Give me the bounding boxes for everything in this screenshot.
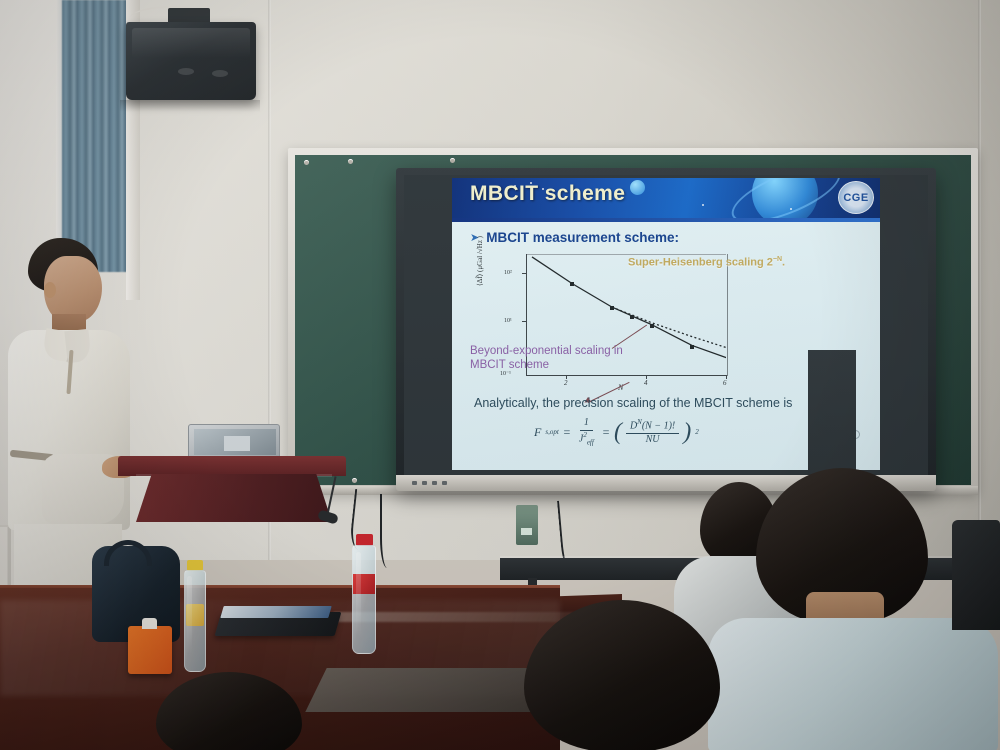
annotation-beyond-exponential: Beyond-exponential scaling in MBCIT sche… <box>470 344 623 373</box>
speaker-shadow <box>120 100 260 112</box>
formula-outer-exponent: 2 <box>695 428 699 436</box>
slide-bullet-text: MBCIT measurement scheme: <box>486 230 679 245</box>
slide-bullet-row: ➤ MBCIT measurement scheme: <box>470 230 679 245</box>
precision-scaling-formula: Fs,opt = 1 J2eff = ( DN(N − 1)! NU )2 <box>534 418 699 446</box>
wall-outlet-box <box>516 505 538 545</box>
cge-logo-text: CGE <box>843 192 868 204</box>
formula-open-paren: ( <box>614 422 622 442</box>
papers-on-table <box>220 606 331 618</box>
wall-seam-right <box>978 0 981 560</box>
podium-body <box>136 474 332 522</box>
formula-frac1-den-sub: eff <box>587 438 594 446</box>
cge-logo: CGE <box>838 181 874 214</box>
chart-xtick-mark-1 <box>646 375 647 379</box>
display-button-4[interactable] <box>442 481 447 485</box>
orange-container-cap <box>142 618 157 629</box>
chart-xtick-mark-0 <box>566 375 567 379</box>
annotation-beyond-line2: MBCIT scheme <box>470 358 623 372</box>
audience-body-right <box>708 618 998 750</box>
wall-outlet-led <box>521 528 532 535</box>
display-button-1[interactable] <box>412 481 417 485</box>
formula-frac2-numerator: DN(N − 1)! <box>626 419 679 434</box>
board-screw-t1 <box>348 159 353 164</box>
display-button-2[interactable] <box>422 481 427 485</box>
annotation-super-exponent: −N <box>773 256 782 263</box>
chart-ytick-0: 10² <box>504 270 512 276</box>
chart-xtick-0: 2 <box>564 379 568 387</box>
formula-eq1: = <box>563 425 571 440</box>
podium-top-surface <box>118 456 346 476</box>
chart-xtick-2: 6 <box>723 379 727 387</box>
slide-header-banner: MBCIT scheme CGE <box>452 178 880 218</box>
lecture-photo-scene: MBCIT scheme CGE ➤ MBCIT measurement sch… <box>0 0 1000 750</box>
orange-container <box>128 626 172 674</box>
slide-analytic-text: Analytically, the precision scaling of t… <box>474 396 792 410</box>
formula-fraction-2: DN(N − 1)! NU <box>626 419 679 445</box>
speaker-driver-left <box>178 68 194 75</box>
formula-frac2-num-rest: (N − 1)! <box>642 420 675 431</box>
chart-marker-5 <box>690 345 694 349</box>
formula-frac1-numerator: 1 <box>580 418 593 431</box>
chart-right-spine <box>727 254 728 376</box>
display-button-3[interactable] <box>432 481 437 485</box>
annotation-beyond-line1: Beyond-exponential scaling in <box>470 344 623 358</box>
chart-marker-2 <box>610 306 614 310</box>
formula-close-paren: ) <box>683 422 691 442</box>
window-curtain <box>62 0 130 272</box>
slide-banner-rule <box>452 218 880 222</box>
chart-marker-4 <box>650 324 654 328</box>
banner-planet-ring <box>725 178 848 218</box>
slide-title: MBCIT scheme <box>470 182 625 206</box>
water-bottle-right <box>350 534 378 654</box>
board-screw-tl <box>304 160 309 165</box>
speaker-driver-right <box>212 70 228 77</box>
board-screw-b1 <box>352 478 357 483</box>
chart-y-axis-label: ⟨Δf̃⟩ (μGal /√Hz ) <box>476 186 484 286</box>
interactive-display-screen[interactable]: MBCIT scheme CGE ➤ MBCIT measurement sch… <box>404 175 928 475</box>
chart-x-axis <box>526 375 728 376</box>
annotation-super-text: Super-Heisenberg scaling 2 <box>628 257 773 269</box>
board-screw-t2 <box>450 158 455 163</box>
chart-ytick-1: 10¹ <box>504 318 512 324</box>
laptop-screen-content <box>224 436 250 451</box>
chart-marker-1 <box>570 282 574 286</box>
banner-planet-small <box>630 180 645 195</box>
annotation-super-tail: . <box>782 257 785 269</box>
banner-star-5 <box>790 208 792 210</box>
chart-xtick-mark-2 <box>726 375 727 379</box>
water-bottle-left <box>182 560 208 672</box>
banner-star-4 <box>702 204 704 206</box>
bottle-highlight-left <box>187 576 192 654</box>
chair-back-right <box>952 520 1000 630</box>
formula-frac1-denominator: J2eff <box>575 431 598 447</box>
power-cable-mid <box>380 494 398 568</box>
annotation-super-heisenberg: Super-Heisenberg scaling 2−N. <box>628 256 785 269</box>
presenter-ear <box>44 282 56 298</box>
formula-lhs: F <box>534 425 541 440</box>
speaker-sheen <box>132 28 250 58</box>
formula-lhs-sub: s,opt <box>545 428 558 436</box>
wall-speaker <box>126 22 256 100</box>
formula-frac2-denominator: NU <box>642 434 664 446</box>
formula-eq2: = <box>602 425 610 440</box>
chart-xtick-1: 4 <box>644 379 648 387</box>
screen-letterbox-left <box>808 350 856 475</box>
bottle-highlight-right <box>356 552 361 636</box>
chart-marker-3 <box>630 315 634 319</box>
formula-fraction-1: 1 J2eff <box>575 418 598 446</box>
